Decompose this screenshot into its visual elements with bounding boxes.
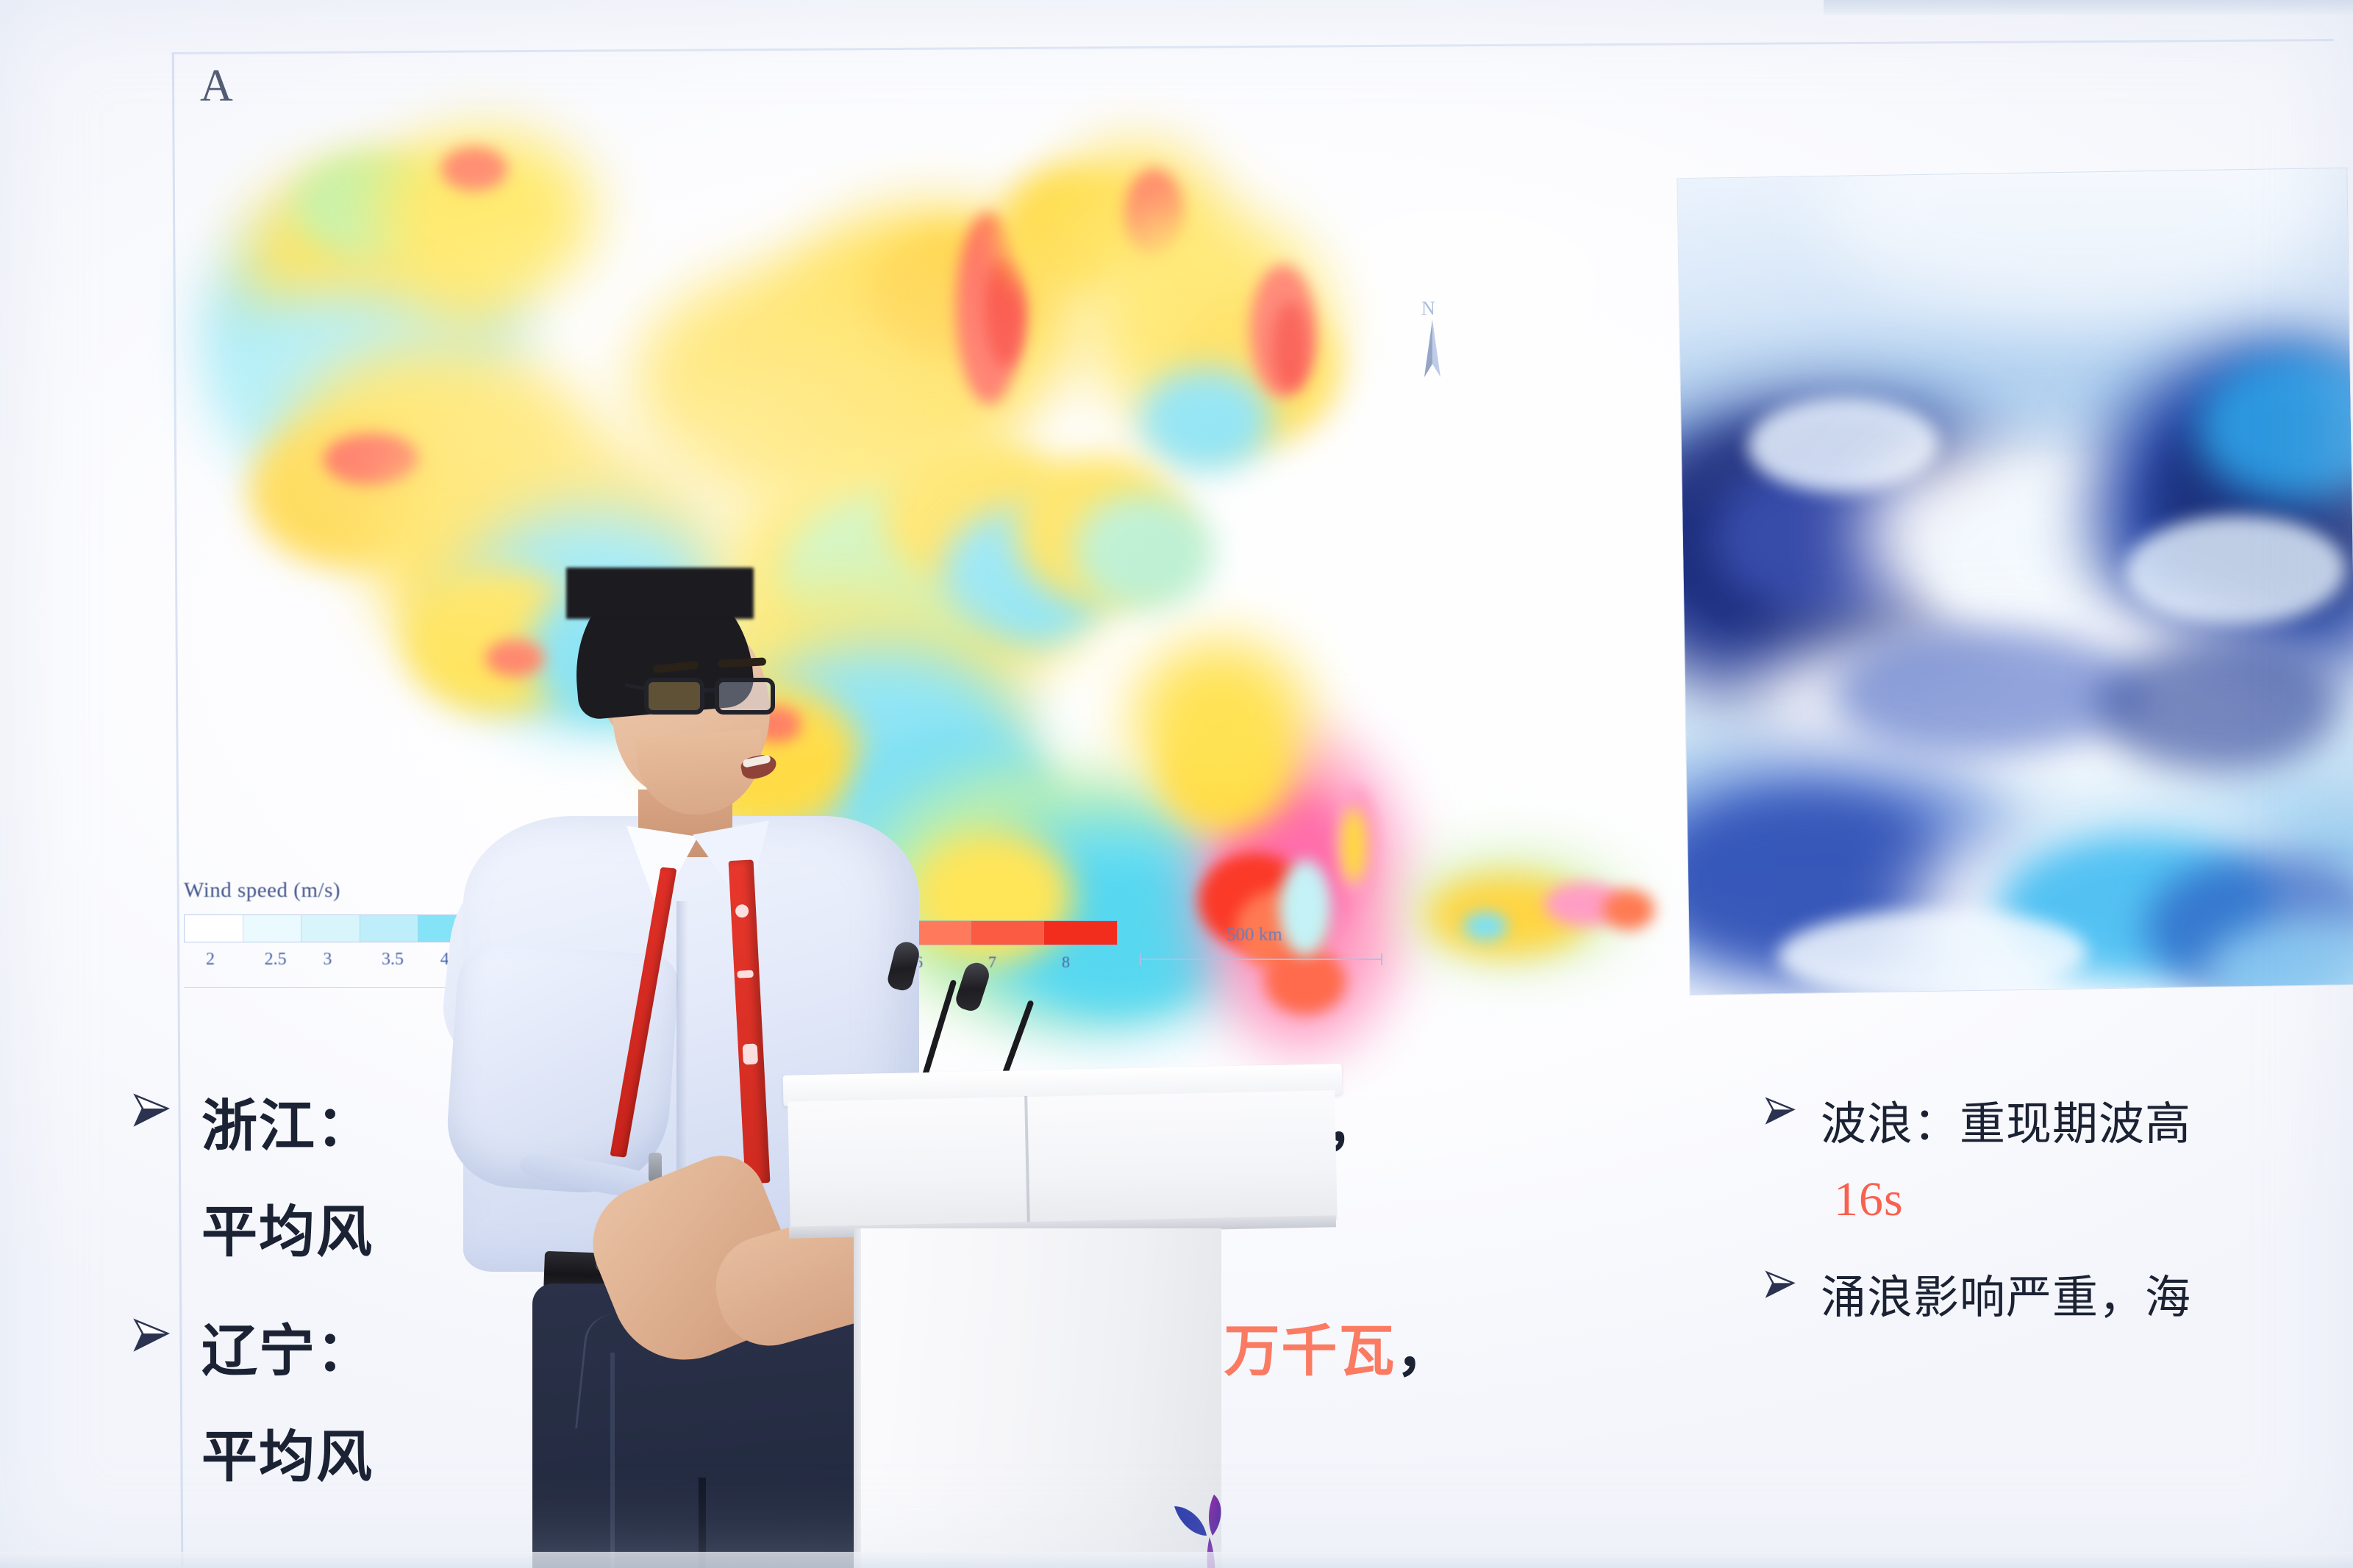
arrow-bullet-icon: [1765, 1269, 1796, 1300]
slide-bullets-right: 波浪：重现期波高 16s 涌浪影响严重，海: [1765, 1086, 2353, 1354]
bullet-group-swell: 涌浪影响严重，海: [1765, 1260, 2353, 1326]
glasses-lens-left: [644, 678, 704, 715]
bullet-line: 涌浪影响严重，海: [1765, 1260, 2353, 1326]
arrow-bullet-icon: [1765, 1095, 1796, 1126]
projection-screen-top-edge: [1824, 0, 2353, 15]
stage-scene: A: [0, 0, 2353, 1568]
north-arrow-label: N: [1421, 298, 1435, 320]
speaker-hair-texture: [566, 568, 754, 619]
bullet-text-zhejiang-label: 浙江：: [201, 1081, 374, 1161]
arrow-bullet-icon: [132, 1316, 171, 1354]
ocean-wave-photo: [1677, 168, 2353, 995]
microphone-head-left: [886, 939, 922, 992]
legend-tick: 3.5: [382, 950, 440, 970]
bullet-text-wave-period-value: 16s: [1834, 1172, 1904, 1228]
legend-tick: 2: [206, 950, 265, 970]
legend-tick: 3: [323, 950, 382, 970]
glasses-lens-right: [715, 678, 775, 715]
screen-bottom-edge: [0, 1552, 2353, 1568]
slide-panel-label: A: [200, 60, 234, 112]
bullet-text-liaoning-avgwind: 平均风: [201, 1411, 374, 1492]
north-arrow-icon: N: [1415, 298, 1449, 393]
bullet-text-wave-period: 波浪：重现期波高: [1821, 1086, 2191, 1153]
podium-column: OFFSHORE WIND CONFERENCE 海上风电大会 2025: [861, 1228, 1221, 1568]
bullet-text-zhejiang-avgwind: 平均风: [201, 1186, 374, 1267]
speaking-podium: OFFSHORE WIND CONFERENCE 海上风电大会 2025: [783, 1070, 1342, 1568]
speaker-shirt-placket: [676, 901, 688, 1210]
bullet-text-liaoning-label: 辽宁：: [201, 1306, 374, 1386]
scale-bar-line: [1140, 959, 1382, 960]
bullet-line: 波浪：重现期波高: [1765, 1086, 2353, 1153]
legend-tick: 2.5: [265, 950, 324, 970]
bullet-group-wave: 波浪：重现期波高 16s: [1765, 1086, 2353, 1228]
arrow-bullet-icon: [132, 1091, 171, 1129]
bullet-text-liaoning-comma: ，: [1396, 1306, 1454, 1386]
glasses-bridge: [703, 688, 718, 692]
microphone-head-right: [954, 959, 993, 1013]
bullet-text-swell: 涌浪影响严重，海: [1821, 1260, 2191, 1326]
scale-bar-label: 500 km: [1227, 925, 1434, 945]
podium-front-panel: [788, 1090, 1338, 1231]
bullet-line: 16s: [1834, 1172, 2353, 1228]
map-scale-bar: 500 km: [1140, 925, 1434, 960]
speaker-glasses-icon: [644, 673, 788, 719]
